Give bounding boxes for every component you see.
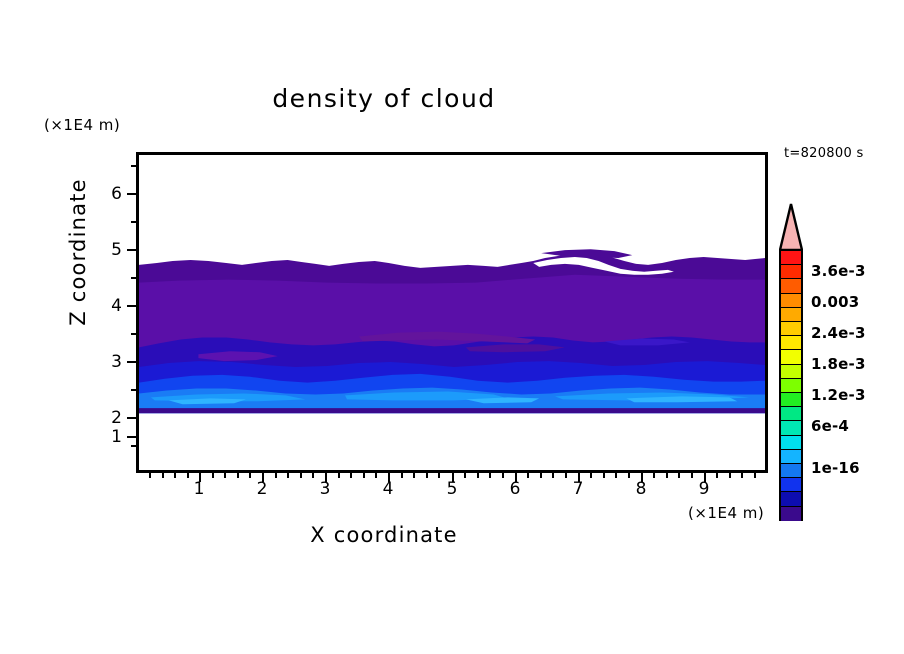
x-tick-minor <box>729 473 731 478</box>
colorbar-tick-label: 6e-4 <box>811 417 849 435</box>
y-tick-label: 4 <box>92 296 122 316</box>
contour-field <box>139 155 765 470</box>
x-tick-minor <box>678 473 680 478</box>
y-tick-minor <box>131 277 136 279</box>
x-tick-label: 6 <box>500 479 530 499</box>
x-tick-minor <box>615 473 617 478</box>
x-tick-label: 1 <box>184 479 214 499</box>
colorbar-segment <box>781 336 801 350</box>
x-tick-minor <box>489 473 491 478</box>
colorbar-segment <box>781 365 801 379</box>
y-tick-minor <box>131 389 136 391</box>
x-tick-minor <box>212 473 214 478</box>
x-tick-minor <box>300 473 302 478</box>
y-tick-label: 6 <box>92 184 122 204</box>
colorbar-segment <box>781 322 801 336</box>
y-tick-minor <box>131 165 136 167</box>
x-tick-minor <box>187 473 189 478</box>
colorbar-tick-label: 1e-16 <box>811 459 860 477</box>
colorbar-segment <box>781 421 801 435</box>
colorbar-segments[interactable] <box>779 249 803 521</box>
y-tick-minor <box>131 445 136 447</box>
page-title: density of cloud <box>0 84 768 113</box>
y-tick-major <box>127 361 136 363</box>
x-tick-minor <box>426 473 428 478</box>
x-tick-minor <box>540 473 542 478</box>
x-tick-label: 4 <box>373 479 403 499</box>
colorbar-tick-label: 0.003 <box>811 293 859 311</box>
x-tick-minor <box>464 473 466 478</box>
x-tick-label: 8 <box>626 479 656 499</box>
x-tick-minor <box>401 473 403 478</box>
x-tick-minor <box>502 473 504 478</box>
y-tick-minor <box>131 221 136 223</box>
x-tick-minor <box>527 473 529 478</box>
colorbar-segment <box>781 393 801 407</box>
colorbar-segment <box>781 407 801 421</box>
time-annotation: t=820800 s <box>784 146 864 161</box>
y-tick-label: 3 <box>92 352 122 372</box>
colorbar-segment <box>781 478 801 492</box>
x-tick-minor <box>653 473 655 478</box>
x-tick-label: 9 <box>689 479 719 499</box>
x-tick-minor <box>754 473 756 478</box>
x-tick-minor <box>350 473 352 478</box>
y-tick-label: 2 <box>92 408 122 428</box>
x-axis-units-label: (×1E4 m) <box>688 504 764 522</box>
colorbar-overflow-arrow-icon <box>779 203 803 251</box>
colorbar-tick-label: 2.4e-3 <box>811 324 866 342</box>
colorbar-segment <box>781 436 801 450</box>
x-tick-label: 7 <box>563 479 593 499</box>
x-tick-minor <box>287 473 289 478</box>
x-tick-label: 5 <box>437 479 467 499</box>
x-tick-minor <box>249 473 251 478</box>
x-tick-minor <box>552 473 554 478</box>
x-axis-title: X coordinate <box>0 523 768 547</box>
x-tick-minor <box>413 473 415 478</box>
x-tick-minor <box>149 473 151 478</box>
x-tick-minor <box>363 473 365 478</box>
colorbar-segment <box>781 265 801 279</box>
x-tick-label: 3 <box>310 479 340 499</box>
colorbar-segment <box>781 379 801 393</box>
x-tick-minor <box>237 473 239 478</box>
x-tick-minor <box>565 473 567 478</box>
y-tick-label: 5 <box>92 240 122 260</box>
contour-plot-area <box>136 152 768 473</box>
colorbar-tick-label: 1.2e-3 <box>811 386 866 404</box>
x-tick-minor <box>375 473 377 478</box>
x-tick-minor <box>174 473 176 478</box>
x-tick-minor <box>628 473 630 478</box>
colorbar-segment <box>781 350 801 364</box>
x-tick-minor <box>716 473 718 478</box>
colorbar-segment <box>781 308 801 322</box>
colorbar-segment <box>781 294 801 308</box>
y-tick-major <box>127 193 136 195</box>
x-tick-minor <box>666 473 668 478</box>
x-tick-minor <box>312 473 314 478</box>
x-tick-minor <box>275 473 277 478</box>
y-tick-label: 1 <box>92 427 122 447</box>
colorbar-segment <box>781 450 801 464</box>
x-tick-minor <box>162 473 164 478</box>
x-tick-minor <box>438 473 440 478</box>
x-tick-minor <box>338 473 340 478</box>
y-tick-major <box>127 305 136 307</box>
colorbar-segment <box>781 464 801 478</box>
y-tick-major <box>127 436 136 438</box>
colorbar-tick-label: 1.8e-3 <box>811 355 866 373</box>
colorbar-tick-label: 3.6e-3 <box>811 262 866 280</box>
x-tick-minor <box>603 473 605 478</box>
x-tick-minor <box>477 473 479 478</box>
y-axis-units-label: (×1E4 m) <box>44 116 120 134</box>
x-tick-minor <box>741 473 743 478</box>
colorbar-segment <box>781 507 801 521</box>
x-tick-minor <box>691 473 693 478</box>
y-axis-title: Z coordinate <box>66 152 90 352</box>
colorbar-segment <box>781 279 801 293</box>
colorbar-segment <box>781 492 801 506</box>
x-tick-minor <box>224 473 226 478</box>
x-tick-minor <box>590 473 592 478</box>
figure-canvas: density of cloud (×1E4 m) t=820800 s (×1… <box>0 0 904 654</box>
y-tick-minor <box>131 333 136 335</box>
x-tick-label: 2 <box>247 479 277 499</box>
y-tick-major <box>127 249 136 251</box>
colorbar-segment <box>781 251 801 265</box>
